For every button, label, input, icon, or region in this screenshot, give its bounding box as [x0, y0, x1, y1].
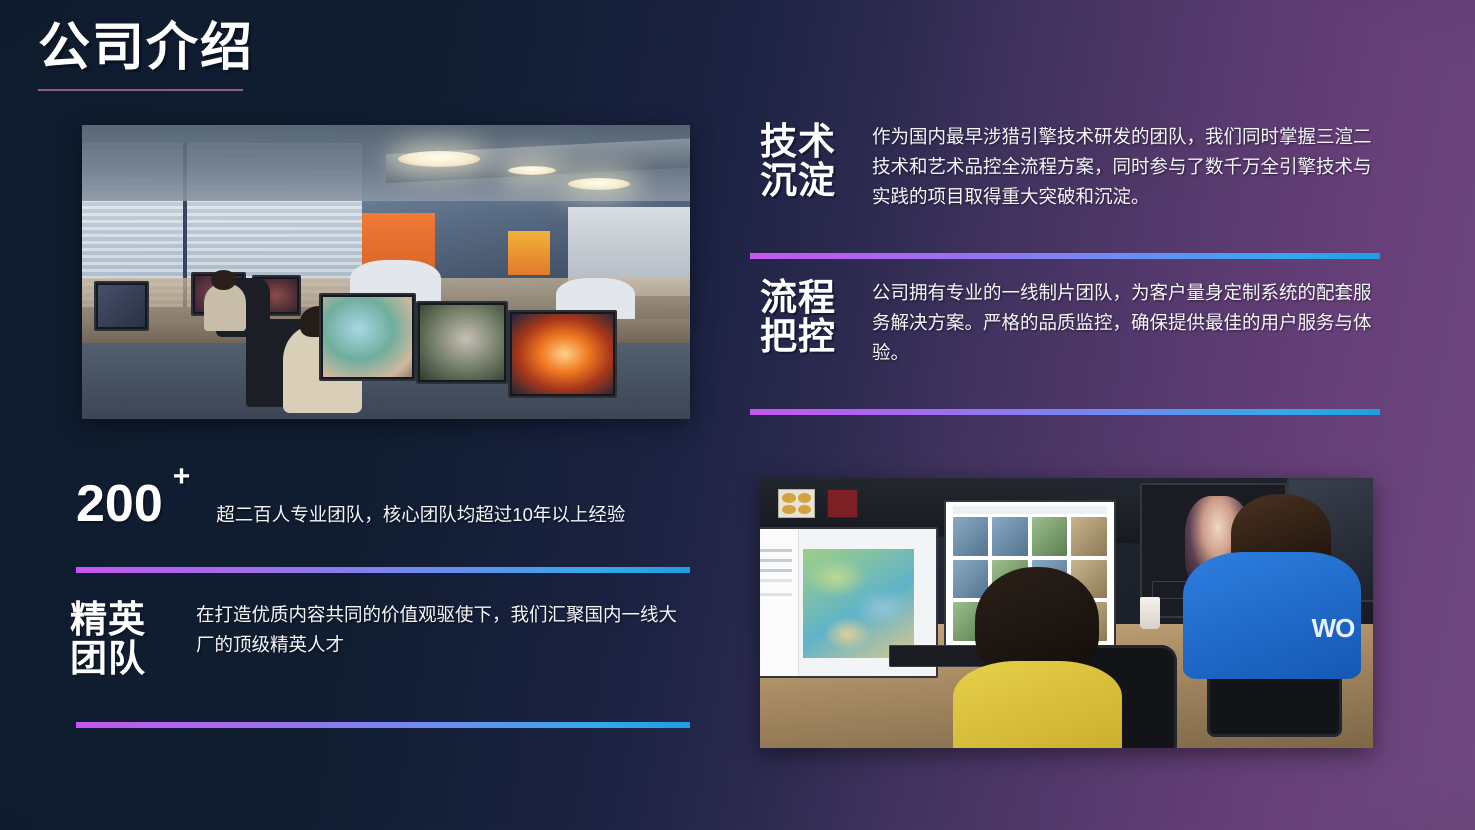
office-monitor: [508, 310, 617, 398]
office-photo: [82, 125, 690, 419]
feature-process-control: 流程 把控 公司拥有专业的一线制片团队，为客户量身定制系统的配套服务解决方案。严…: [760, 278, 1385, 368]
desk-red-plaque: [827, 489, 858, 519]
stat-block-team-size: 200 + 超二百人专业团队，核心团队均超过10年以上经验: [76, 478, 691, 530]
monitor-screen: [323, 297, 412, 377]
office-lamp: [568, 178, 630, 190]
divider-right-lower: [750, 409, 1380, 415]
stat-row: 200 + 超二百人专业团队，核心团队均超过10年以上经验: [76, 478, 691, 530]
divider-right-upper: [750, 253, 1380, 259]
page-title-group: 公司介绍: [38, 22, 254, 91]
person-hoodie: WO: [1183, 552, 1361, 679]
feature-body: 公司拥有专业的一线制片团队，为客户量身定制系统的配套服务解决方案。严格的品质监控…: [872, 278, 1380, 368]
page-title: 公司介绍: [38, 22, 254, 74]
office-monitor: [319, 293, 416, 381]
feature-heading: 技术 沉淀: [760, 122, 872, 200]
feature-elite-team: 精英 团队 在打造优质内容共同的价值观驱使下，我们汇聚国内一线大厂的顶级精英人才: [70, 600, 695, 678]
office-monitor: [416, 301, 507, 383]
desk-sticker-card: [778, 489, 815, 519]
stat-description: 超二百人专业团队，核心团队均超过10年以上经验: [216, 501, 625, 527]
stat-number: 200: [76, 478, 163, 530]
monitor-screen: [512, 314, 613, 394]
office-worker: [204, 284, 247, 331]
title-underline: [38, 89, 243, 91]
monitor-screen: [98, 285, 145, 327]
designers-photo: WO: [760, 478, 1373, 748]
stat-plus-sign: +: [173, 462, 191, 492]
hoodie-text: WO: [1312, 613, 1355, 644]
office-monitor: [94, 281, 149, 331]
monitor-map-artwork: [803, 549, 915, 658]
divider-left-upper: [76, 567, 690, 573]
person-sweater: [953, 661, 1122, 748]
feature-heading: 流程 把控: [760, 278, 872, 356]
feature-tech-accumulation: 技术 沉淀 作为国内最早涉猎引擎技术研发的团队，我们同时掌握三渲二技术和艺术品控…: [760, 122, 1385, 212]
divider-left-lower: [76, 722, 690, 728]
office-orange-column: [508, 231, 551, 275]
designer-person-yellow: [962, 567, 1121, 748]
feature-heading: 精英 团队: [70, 600, 190, 678]
monitor-side-panel: [760, 529, 799, 676]
desk-paper-cup: [1140, 597, 1160, 629]
slide-canvas: 公司介绍: [0, 0, 1475, 830]
feature-body: 作为国内最早涉猎引擎技术研发的团队，我们同时掌握三渲二技术和艺术品控全流程方案，…: [872, 122, 1380, 212]
monitor-screen: [420, 305, 503, 379]
designer-person-blue: WO: [1183, 494, 1355, 699]
feature-body: 在打造优质内容共同的价值观驱使下，我们汇聚国内一线大厂的顶级精英人才: [196, 600, 686, 660]
monitor-toolbar: [953, 506, 1107, 514]
